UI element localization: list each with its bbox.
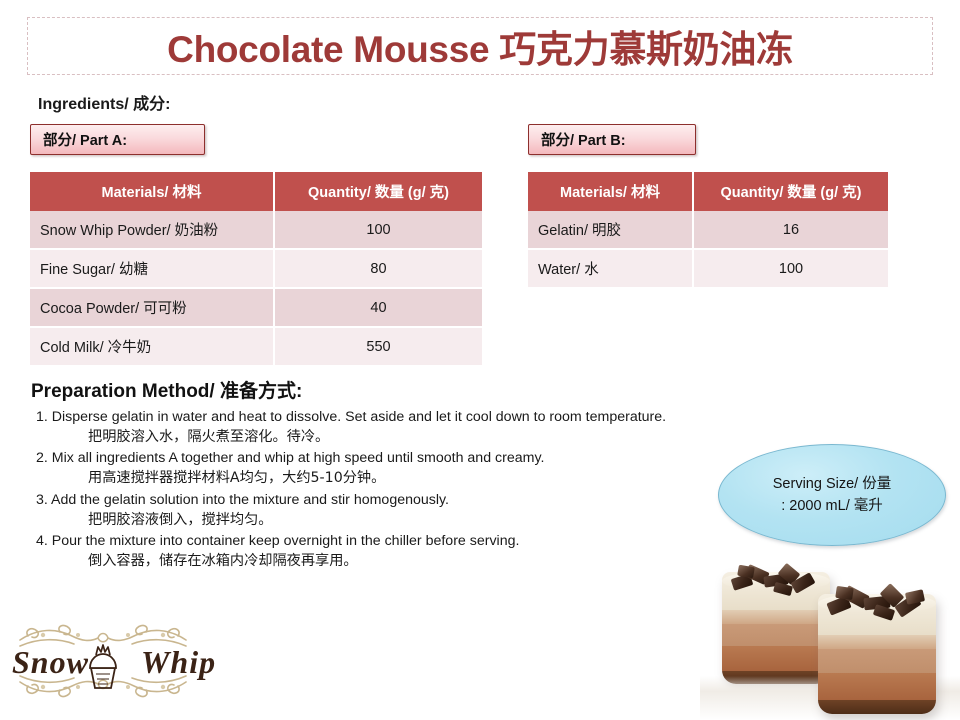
dessert-photo — [700, 542, 960, 720]
step-text-english: 2. Mix all ingredients A together and wh… — [36, 448, 796, 468]
cell-quantity: 550 — [275, 328, 482, 367]
column-header-quantity: Quantity/ 数量 (g/ 克) — [275, 172, 482, 211]
table-row: Gelatin/ 明胶 16 — [528, 211, 888, 250]
preparation-step: 3. Add the gelatin solution into the mix… — [36, 490, 796, 530]
cell-quantity: 80 — [275, 250, 482, 289]
step-text-chinese: 把明胶溶液倒入，搅拌均匀。 — [36, 510, 796, 530]
part-b-table: Materials/ 材料 Quantity/ 数量 (g/ 克) Gelati… — [528, 172, 888, 289]
step-text-english: 3. Add the gelatin solution into the mix… — [36, 490, 796, 510]
cell-quantity: 40 — [275, 289, 482, 328]
title-box: Chocolate Mousse 巧克力慕斯奶油冻 — [27, 17, 933, 75]
serving-size-badge: Serving Size/ 份量 : 2000 mL/ 毫升 — [718, 444, 946, 546]
ingredients-heading: Ingredients/ 成分: — [38, 90, 170, 114]
preparation-step: 4. Pour the mixture into container keep … — [36, 531, 796, 571]
step-text-chinese: 把明胶溶入水，隔火煮至溶化。待冷。 — [36, 427, 796, 447]
table-header-row: Materials/ 材料 Quantity/ 数量 (g/ 克) — [30, 172, 482, 211]
table-row: Fine Sugar/ 幼糖 80 — [30, 250, 482, 289]
logo-text: SnowWhip — [12, 644, 194, 681]
cell-material: Cocoa Powder/ 可可粉 — [30, 289, 275, 328]
serving-size-line-1: Serving Size/ 份量 — [773, 473, 891, 495]
part-b-chip: 部分/ Part B: — [528, 124, 696, 155]
step-text-chinese: 倒入容器，储存在冰箱内冷却隔夜再享用。 — [36, 551, 796, 571]
step-text-chinese: 用高速搅拌器搅拌材料A均匀，大约5-10分钟。 — [36, 468, 796, 488]
cell-material: Cold Milk/ 冷牛奶 — [30, 328, 275, 367]
cell-material: Water/ 水 — [528, 250, 694, 289]
table-header-row: Materials/ 材料 Quantity/ 数量 (g/ 克) — [528, 172, 888, 211]
table-row: Snow Whip Powder/ 奶油粉 100 — [30, 211, 482, 250]
cell-quantity: 16 — [694, 211, 888, 250]
serving-size-line-2: : 2000 mL/ 毫升 — [781, 495, 883, 517]
column-header-materials: Materials/ 材料 — [30, 172, 275, 211]
page-title-chinese: 巧克力慕斯奶油冻 — [499, 28, 793, 71]
step-text-english: 4. Pour the mixture into container keep … — [36, 531, 796, 551]
cell-material: Snow Whip Powder/ 奶油粉 — [30, 211, 275, 250]
chocolate-shavings-right — [826, 587, 928, 621]
chocolate-shavings-left — [730, 566, 822, 596]
page-title-english: Chocolate Mousse — [167, 29, 499, 70]
table-row: Water/ 水 100 — [528, 250, 888, 289]
page-title: Chocolate Mousse 巧克力慕斯奶油冻 — [167, 19, 793, 73]
cell-material: Fine Sugar/ 幼糖 — [30, 250, 275, 289]
step-text-english: 1. Disperse gelatin in water and heat to… — [36, 407, 796, 427]
cell-quantity: 100 — [275, 211, 482, 250]
cell-material: Gelatin/ 明胶 — [528, 211, 694, 250]
table-row: Cold Milk/ 冷牛奶 550 — [30, 328, 482, 367]
column-header-materials: Materials/ 材料 — [528, 172, 694, 211]
preparation-heading: Preparation Method/ 准备方式: — [31, 376, 302, 403]
column-header-quantity: Quantity/ 数量 (g/ 克) — [694, 172, 888, 211]
preparation-steps-list: 1. Disperse gelatin in water and heat to… — [36, 407, 796, 572]
preparation-step: 2. Mix all ingredients A together and wh… — [36, 448, 796, 488]
snow-whip-logo: SnowWhip — [12, 618, 194, 704]
preparation-step: 1. Disperse gelatin in water and heat to… — [36, 407, 796, 447]
recipe-card-page: Chocolate Mousse 巧克力慕斯奶油冻 Ingredients/ 成… — [0, 0, 960, 720]
part-a-chip: 部分/ Part A: — [30, 124, 205, 155]
part-a-table: Materials/ 材料 Quantity/ 数量 (g/ 克) Snow W… — [30, 172, 482, 367]
table-row: Cocoa Powder/ 可可粉 40 — [30, 289, 482, 328]
cell-quantity: 100 — [694, 250, 888, 289]
